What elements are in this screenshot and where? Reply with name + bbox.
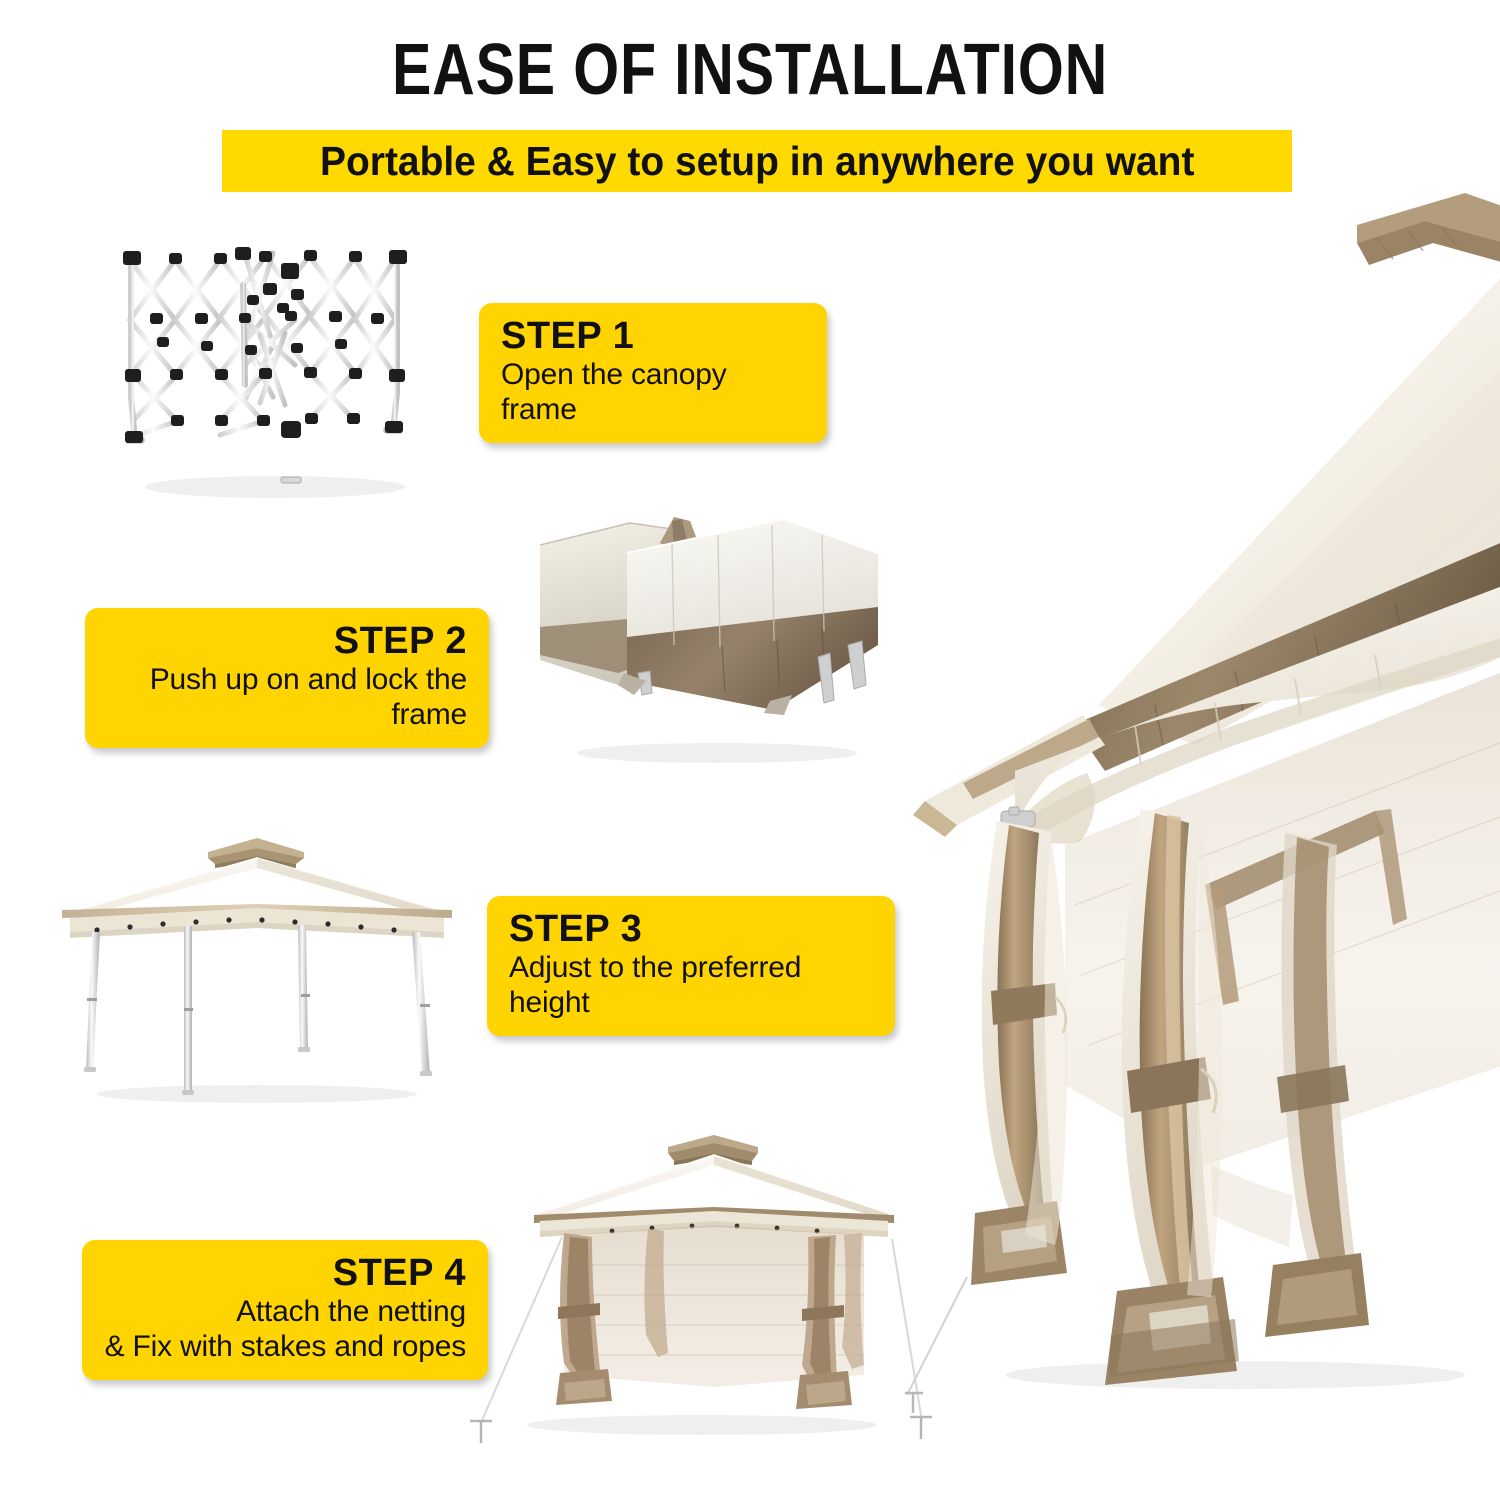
step-1-title: STEP 1 [501, 316, 805, 357]
step-2-title: STEP 2 [107, 621, 467, 662]
subtitle-text: Portable & Easy to setup in anywhere you… [320, 138, 1194, 185]
page-title: EASE OF INSTALLATION [135, 34, 1365, 106]
step-1-description: Open the canopy frame [501, 357, 805, 428]
illustration-step-2-fabric-draped [522, 495, 897, 770]
illustration-step-3-erected-gazebo [52, 822, 457, 1112]
step-label-3: STEP 3 Adjust to the preferred height [487, 896, 895, 1036]
illustration-step-1-folded-frame [95, 225, 440, 505]
step-2-description: Push up on and lock the frame [107, 662, 467, 733]
infographic-page: EASE OF INSTALLATION Portable & Easy to … [0, 0, 1500, 1500]
illustration-step-4-gazebo-with-netting [452, 1125, 937, 1490]
step-label-1: STEP 1 Open the canopy frame [479, 303, 827, 443]
step-3-title: STEP 3 [509, 909, 873, 950]
step-label-2: STEP 2 Push up on and lock the frame [85, 608, 489, 748]
step-label-4: STEP 4 Attach the netting & Fix with sta… [82, 1240, 488, 1380]
step-4-title: STEP 4 [104, 1253, 466, 1294]
step-3-description: Adjust to the preferred height [509, 950, 873, 1021]
subtitle-banner: Portable & Easy to setup in anywhere you… [222, 130, 1292, 192]
hero-gazebo-closeup [905, 185, 1500, 1425]
step-4-description: Attach the netting [104, 1294, 466, 1329]
step-4-description-line2: & Fix with stakes and ropes [104, 1329, 466, 1364]
